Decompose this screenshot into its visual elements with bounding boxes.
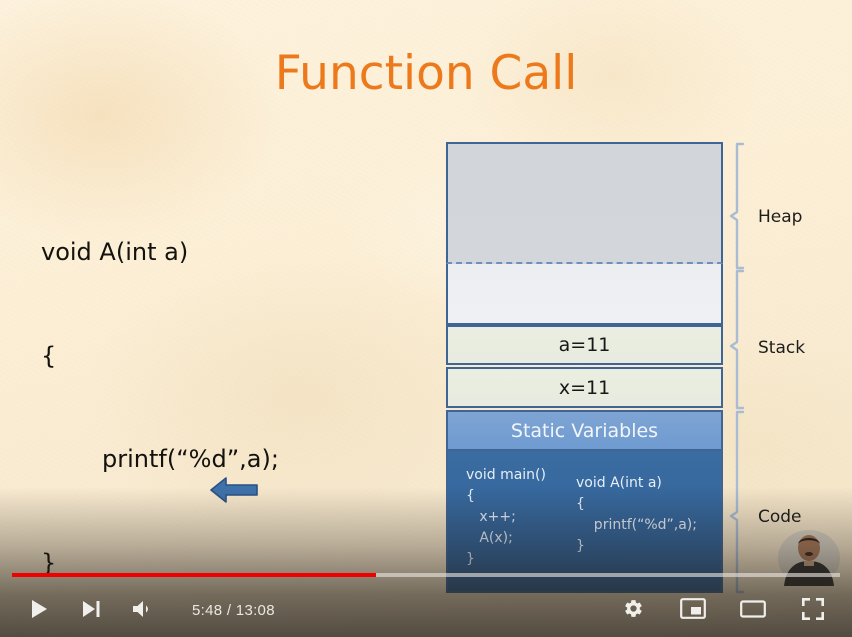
miniplayer-button[interactable]: [676, 593, 710, 627]
next-track-icon: [81, 600, 101, 621]
next-button[interactable]: [74, 593, 108, 627]
settings-button[interactable]: [616, 593, 650, 627]
stack-frame-a-label: a=11: [559, 334, 611, 356]
memory-layout-diagram: a=11 x=11 Static Variables void main() {…: [446, 142, 723, 593]
video-player-screen: Function Call void A(int a) { printf(“%d…: [0, 0, 852, 637]
fullscreen-icon: [802, 598, 824, 623]
volume-button[interactable]: [126, 593, 160, 627]
player-controls-left: 5:48 / 13:08: [0, 593, 275, 627]
code-line: printf(“%d”,a);: [41, 442, 411, 477]
theater-button[interactable]: [736, 593, 770, 627]
region-label-heap: Heap: [758, 207, 802, 227]
player-controls-bar: 5:48 / 13:08: [0, 583, 852, 637]
heap-region-block: [446, 142, 723, 264]
code-segment-snippet-a: void A(int a) { printf(“%d”,a); }: [576, 473, 697, 557]
region-brace-group: Heap Stack Code: [723, 140, 793, 595]
progress-bar[interactable]: [0, 569, 852, 581]
source-code-listing: void A(int a) { printf(“%d”,a); } void m…: [41, 166, 411, 637]
play-icon: [29, 599, 49, 622]
region-label-stack: Stack: [758, 338, 805, 358]
progress-track[interactable]: [12, 573, 840, 577]
code-segment-snippet-main: void main() { x++; A(x); }: [466, 465, 546, 570]
code-line: {: [41, 339, 411, 374]
theater-mode-icon: [740, 599, 766, 622]
page-title: Function Call: [0, 46, 852, 101]
time-display: 5:48 / 13:08: [192, 602, 275, 619]
play-button[interactable]: [22, 593, 56, 627]
static-variables-label: Static Variables: [511, 420, 658, 442]
free-space-region-block: [446, 264, 723, 325]
code-line: void A(int a): [41, 235, 411, 270]
static-variables-block: Static Variables: [446, 410, 723, 451]
stack-frame-a: a=11: [446, 325, 723, 365]
volume-icon: [132, 600, 154, 621]
progress-played: [12, 573, 376, 577]
left-arrow-icon: [209, 475, 259, 505]
stack-frame-x-label: x=11: [559, 377, 610, 399]
region-label-code: Code: [758, 507, 802, 527]
stack-frame-x: x=11: [446, 367, 723, 408]
player-controls-right: [616, 593, 852, 627]
miniplayer-icon: [680, 598, 706, 622]
fullscreen-button[interactable]: [796, 593, 830, 627]
gear-icon: [623, 598, 644, 622]
